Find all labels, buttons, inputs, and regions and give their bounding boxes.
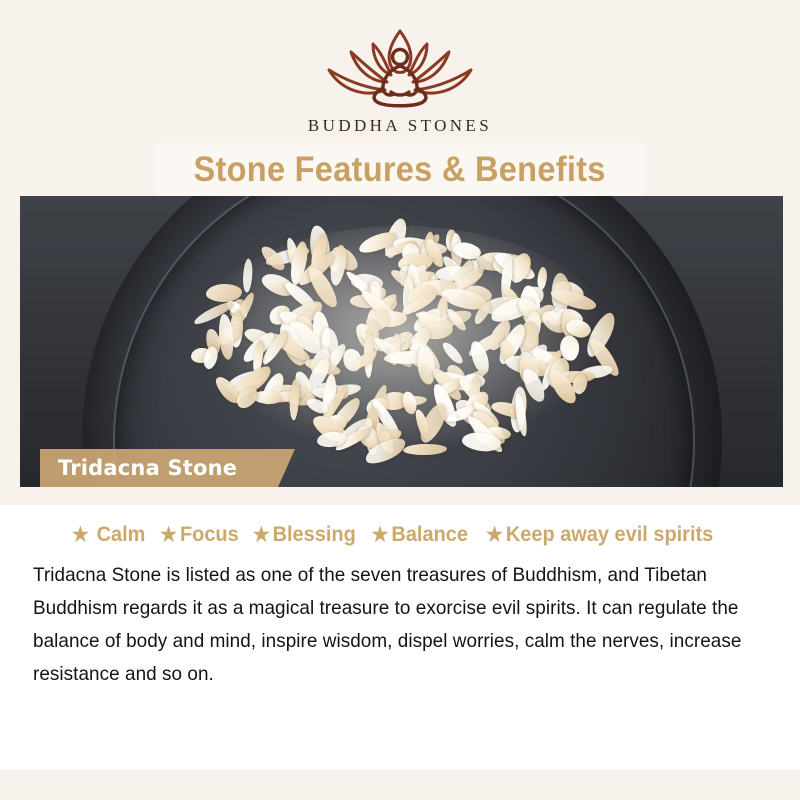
feature-item: ★Focus bbox=[160, 523, 239, 547]
stone-caption-band: Tridacna Stone bbox=[40, 449, 295, 487]
star-icon: ★ bbox=[72, 525, 89, 545]
star-icon: ★ bbox=[160, 525, 177, 545]
header: BUDDHA STONES Stone Features & Benefits bbox=[0, 0, 800, 196]
feature-label: Focus bbox=[180, 523, 239, 547]
shell-bead bbox=[403, 443, 447, 455]
photo-bottom-gap bbox=[20, 487, 783, 505]
photo-canvas bbox=[20, 196, 783, 487]
shell-bead bbox=[242, 258, 254, 292]
star-icon: ★ bbox=[253, 525, 270, 545]
brand-logo: BUDDHA STONES bbox=[0, 22, 800, 136]
feature-item: ★Balance bbox=[371, 523, 467, 547]
section-title-plaque: Stone Features & Benefits bbox=[155, 143, 645, 196]
shell-bead bbox=[415, 346, 437, 386]
feature-label: Balance bbox=[391, 523, 468, 547]
content-area: ★Calm★Focus★Blessing★Balance★Keep away e… bbox=[0, 505, 800, 770]
feature-item: ★Calm bbox=[72, 523, 145, 547]
shell-bead bbox=[440, 339, 466, 366]
feature-label: Calm bbox=[97, 523, 146, 547]
feature-item: ★Keep away evil spirits bbox=[486, 523, 713, 547]
bottom-strip bbox=[0, 770, 800, 800]
lotus-meditation-icon bbox=[311, 22, 489, 112]
shell-bead-heap bbox=[182, 218, 622, 466]
shell-bead bbox=[560, 335, 579, 360]
brand-name: BUDDHA STONES bbox=[0, 116, 800, 136]
star-icon: ★ bbox=[371, 525, 388, 545]
stone-caption-text: Tridacna Stone bbox=[58, 456, 237, 480]
product-feature-card: BUDDHA STONES Stone Features & Benefits … bbox=[0, 0, 800, 800]
feature-list: ★Calm★Focus★Blessing★Balance★Keep away e… bbox=[0, 505, 800, 547]
description-paragraph: Tridacna Stone is listed as one of the s… bbox=[33, 559, 745, 691]
page-title: Stone Features & Benefits bbox=[194, 150, 606, 190]
feature-label: Blessing bbox=[273, 523, 356, 547]
star-icon: ★ bbox=[486, 525, 503, 545]
feature-label: Keep away evil spirits bbox=[506, 523, 713, 547]
feature-item: ★Blessing bbox=[253, 523, 356, 547]
product-photo: Tridacna Stone bbox=[20, 196, 783, 487]
